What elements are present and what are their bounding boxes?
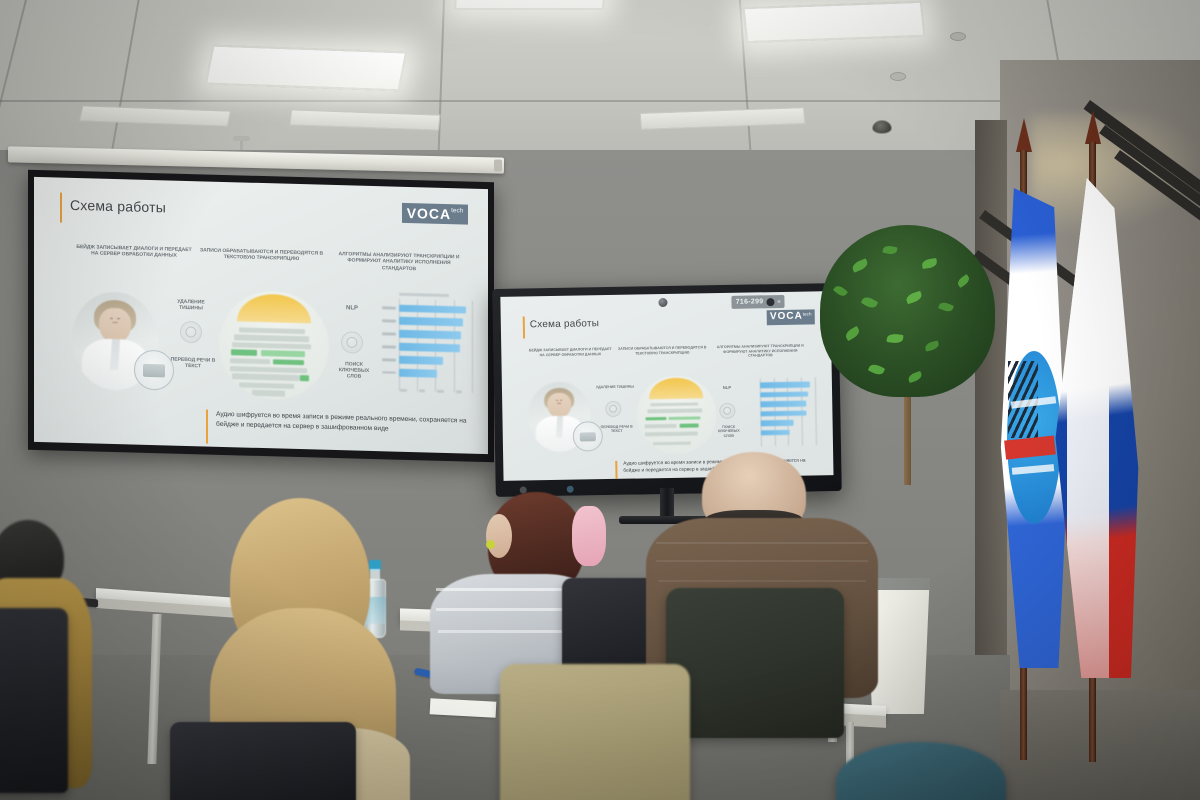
transcript-line bbox=[232, 342, 311, 350]
knit-texture-line bbox=[656, 542, 868, 544]
caption-accent-bar bbox=[206, 410, 208, 444]
session-code-text: 716-299 bbox=[736, 298, 764, 305]
tv-transcript-line bbox=[645, 424, 677, 428]
transcript-bubble bbox=[219, 290, 329, 401]
tv-photo-face bbox=[547, 393, 571, 419]
transcript-line bbox=[230, 366, 307, 373]
tv-chart-bar bbox=[760, 382, 810, 389]
step-label-4: ПОИСК КЛЮЧЕВЫХ СЛОВ bbox=[332, 361, 376, 380]
transcript-line bbox=[234, 335, 309, 342]
knit-texture-line bbox=[658, 580, 866, 582]
tv-column-heading-1: БЕЙДЖ ЗАПИСЫВАЕТ ДИАЛОГИ И ПЕРЕДАЕТ НА С… bbox=[527, 347, 613, 358]
ceiling-light-panel-dim bbox=[289, 109, 440, 130]
person-grey-jacket-face bbox=[486, 514, 512, 558]
tv-column-heading-3: АЛГОРИТМЫ АНАЛИЗИРУЮТ ТРАНСКРИПЦИИ И ФОР… bbox=[713, 344, 807, 359]
tv-chart-bar bbox=[761, 420, 794, 426]
session-code-badge: 716-299 bbox=[732, 295, 785, 309]
tv-transcript-highlight bbox=[680, 424, 699, 428]
tv-step-label-1: УДАЛЕНИЕ ТИШИНЫ bbox=[596, 385, 634, 390]
analytics-bar-chart bbox=[382, 298, 474, 392]
chart-xlabel bbox=[456, 390, 462, 393]
tv-chart-gridline bbox=[814, 377, 816, 445]
chart-xlabel bbox=[400, 389, 406, 392]
tv-voca-logo-superscript: tech bbox=[803, 311, 812, 316]
caption-text: Аудио шифруется во время записи в режиме… bbox=[216, 410, 474, 437]
photo-mouth bbox=[112, 322, 117, 324]
transcript-arc bbox=[237, 294, 312, 324]
tv-transcript-line bbox=[651, 402, 699, 407]
tv-photo-mouth bbox=[557, 403, 561, 404]
chart-xlabel bbox=[437, 390, 443, 393]
chart-bar bbox=[399, 330, 462, 340]
tv-keyword-search-icon bbox=[719, 403, 735, 419]
flower-bouquet bbox=[572, 506, 606, 566]
keyword-search-icon bbox=[341, 331, 363, 354]
chart-ylabel bbox=[382, 332, 396, 335]
conference-room-scene: Схема работы VOCAtech БЕЙДЖ ЗАПИСЫВАЕТ Д… bbox=[0, 0, 1200, 800]
ceiling-tile-seam bbox=[437, 0, 445, 170]
tv-transcript-highlight bbox=[668, 416, 700, 420]
transcript-highlight bbox=[300, 375, 309, 381]
tv-title-accent-bar bbox=[523, 316, 525, 338]
transcript-line bbox=[232, 373, 300, 380]
ceiling-light-panel bbox=[205, 45, 407, 92]
tv-transcript-arc bbox=[649, 378, 704, 399]
sprinkler-head-icon bbox=[950, 32, 966, 41]
tv-silence-removal-icon bbox=[605, 401, 621, 417]
photo-eye bbox=[110, 317, 113, 318]
ceiling-light-panel bbox=[742, 1, 925, 43]
chair-left bbox=[0, 608, 68, 793]
roller-end-cap bbox=[494, 159, 502, 171]
tv-chart-bar bbox=[760, 401, 806, 408]
transcript-highlight bbox=[231, 350, 257, 356]
badge-indicator-icon bbox=[766, 298, 774, 306]
ceiling-light-panel bbox=[454, 0, 606, 10]
chair-foreground-tan bbox=[500, 664, 690, 800]
chart-bar bbox=[399, 369, 437, 378]
chart-bar bbox=[399, 343, 461, 352]
tv-caption-accent-bar bbox=[615, 461, 617, 481]
tv-voca-logo-text: VOCA bbox=[770, 311, 803, 323]
tv-chart-bar bbox=[761, 410, 807, 417]
chart-gridline bbox=[472, 301, 473, 393]
chair-brown-sweater bbox=[666, 588, 844, 738]
step-label-1: УДАЛЕНИЕ ТИШИНЫ bbox=[166, 298, 216, 312]
tv-column-heading-2: ЗАПИСИ ОБРАБАТЫВАЮТСЯ И ПЕРЕВОДЯТСЯ В ТЕ… bbox=[617, 345, 707, 356]
tv-photo-eye bbox=[560, 400, 562, 401]
transcript-highlight bbox=[261, 350, 305, 357]
ceiling-light-panel-dim bbox=[79, 105, 231, 126]
photo-eye bbox=[117, 318, 120, 319]
tv-voca-logo: VOCAtech bbox=[767, 309, 815, 325]
column-heading-3: АЛГОРИТМЫ АНАЛИЗИРУЮТ ТРАНСКРИПЦИИ И ФОР… bbox=[334, 251, 464, 274]
ceiling-light-panel-dim bbox=[640, 107, 806, 130]
chart-bar bbox=[399, 304, 467, 314]
tv-step-label-2: ПЕРЕВОД РЕЧИ В ТЕКСТ bbox=[597, 425, 637, 434]
step-label-3: NLP bbox=[334, 305, 370, 313]
chair-blonde bbox=[170, 722, 356, 800]
transcript-highlight bbox=[273, 359, 304, 365]
slide-caption: Аудио шифруется во время записи в режиме… bbox=[206, 410, 476, 451]
tv-photo-eye bbox=[556, 400, 558, 401]
tv-transcript-highlight bbox=[645, 417, 666, 421]
chart-ylabel bbox=[382, 307, 396, 310]
plant-canopy bbox=[820, 225, 995, 397]
floor-right bbox=[1000, 690, 1200, 800]
slide-title: Схема работы bbox=[70, 197, 166, 216]
chart-ylabel bbox=[382, 371, 396, 374]
chart-bar bbox=[399, 356, 443, 365]
flag-finial-icon bbox=[1016, 118, 1032, 152]
tv-chart-bar bbox=[761, 430, 789, 436]
transcript-line bbox=[252, 390, 285, 396]
column-heading-1: БЕЙДЖ ЗАПИСЫВАЕТ ДИАЛОГИ И ПЕРЕДАЕТ НА С… bbox=[74, 244, 194, 260]
knit-texture-line bbox=[656, 560, 868, 562]
security-camera-icon bbox=[872, 120, 892, 134]
chart-xlabel bbox=[419, 389, 425, 392]
tv-step-label-4: ПОИСК КЛЮЧЕВЫХ СЛОВ bbox=[713, 425, 745, 439]
tv-transcript-bubble bbox=[636, 375, 717, 454]
flag-finial-icon bbox=[1085, 110, 1101, 144]
voca-logo-text: VOCA bbox=[407, 205, 451, 222]
transcript-line bbox=[230, 358, 270, 364]
tv-transcript-line bbox=[648, 408, 702, 413]
transcript-line bbox=[239, 327, 305, 334]
chart-title-placeholder bbox=[399, 292, 450, 297]
chart-ylabel bbox=[382, 319, 396, 322]
badge-dot-icon bbox=[777, 300, 780, 303]
sprinkler-head-icon bbox=[890, 72, 906, 81]
chart-bar bbox=[399, 317, 464, 327]
title-accent-bar bbox=[60, 193, 62, 223]
chart-ylabel bbox=[382, 345, 396, 348]
voca-logo-superscript: tech bbox=[451, 207, 463, 214]
step-label-2: ПЕРЕВОД РЕЧИ В ТЕКСТ bbox=[166, 356, 220, 370]
tv-camera-icon bbox=[659, 298, 668, 307]
voca-logo: VOCAtech bbox=[402, 203, 468, 225]
ficus-plant bbox=[820, 225, 995, 485]
silence-removal-icon bbox=[180, 321, 202, 344]
tv-transcript-line bbox=[645, 432, 698, 437]
slide-projected: Схема работы VOCAtech БЕЙДЖ ЗАПИСЫВАЕТ Д… bbox=[34, 177, 488, 454]
tv-step-label-3: NLP bbox=[714, 385, 740, 391]
tv-analytics-bar-chart bbox=[748, 377, 817, 446]
photo-face bbox=[99, 307, 132, 343]
tv-slide-title: Схема работы bbox=[530, 318, 599, 330]
projector-screen: Схема работы VOCAtech БЕЙДЖ ЗАПИСЫВАЕТ Д… bbox=[28, 170, 494, 463]
column-heading-2: ЗАПИСИ ОБРАБАТЫВАЮТСЯ И ПЕРЕВОДЯТСЯ В ТЕ… bbox=[199, 247, 324, 263]
tv-transcript-line bbox=[653, 441, 691, 446]
chart-ylabel bbox=[382, 358, 396, 361]
paper-sheet bbox=[430, 698, 497, 717]
transcript-line bbox=[239, 382, 294, 389]
earring-icon bbox=[486, 540, 495, 549]
